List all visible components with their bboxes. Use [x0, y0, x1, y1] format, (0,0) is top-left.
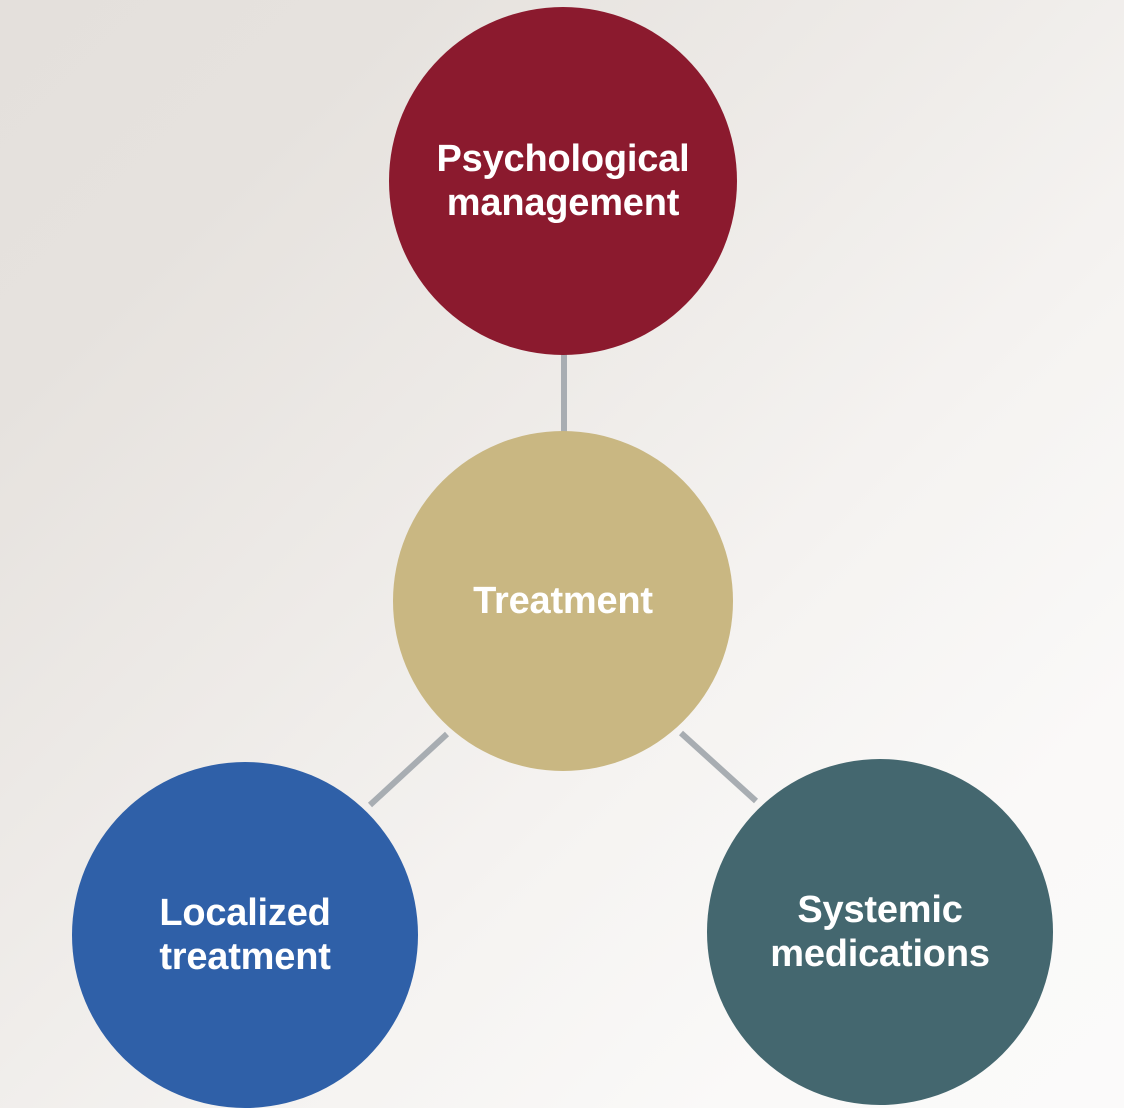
- node-localized-treatment[interactable]: Localized treatment: [72, 762, 418, 1108]
- node-psychological-management[interactable]: Psychological management: [389, 7, 737, 355]
- node-systemic-medications[interactable]: Systemic medications: [707, 759, 1053, 1105]
- node-systemic-medications-label: Systemic medications: [756, 888, 1004, 976]
- node-localized-treatment-label: Localized treatment: [141, 891, 348, 979]
- connector-treatment-systemic: [681, 733, 756, 801]
- node-treatment-hub[interactable]: Treatment: [393, 431, 733, 771]
- connector-treatment-localized: [370, 734, 447, 805]
- diagram-canvas: Psychological management Treatment Local…: [0, 0, 1124, 1108]
- node-treatment-hub-label: Treatment: [473, 579, 653, 623]
- node-psychological-management-label: Psychological management: [423, 137, 704, 225]
